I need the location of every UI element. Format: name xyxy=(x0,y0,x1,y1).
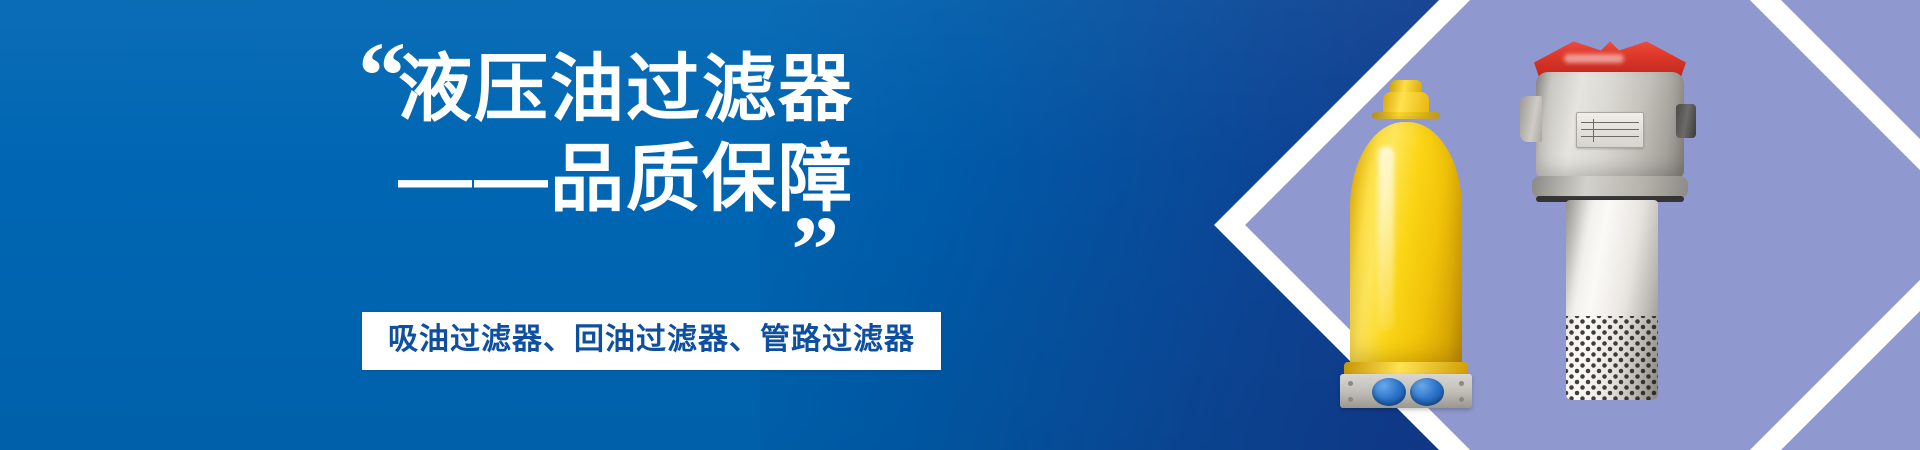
subtitle-text: 吸油过滤器、回油过滤器、管路过滤器 xyxy=(388,323,915,357)
subtitle-badge: 吸油过滤器、回油过滤器、管路过滤器 xyxy=(362,312,941,370)
base-bolt xyxy=(1459,397,1464,402)
name-plate-line xyxy=(1581,122,1639,123)
product-yellow-suction-filter xyxy=(1340,78,1472,408)
grey-filter-right-fitting xyxy=(1676,104,1696,138)
yellow-filter-highlight xyxy=(1378,146,1394,331)
name-plate-line xyxy=(1581,129,1639,130)
grey-filter-left-port xyxy=(1520,96,1542,142)
page-title-line-2: ——品质保障 xyxy=(398,138,798,220)
yellow-filter-port xyxy=(1410,378,1444,406)
tube-shading xyxy=(1566,200,1658,400)
yellow-filter-shoulder-ring xyxy=(1372,112,1440,119)
base-bolt xyxy=(1348,397,1353,402)
banner-text-block: “ 液压油过滤器 ——品质保障 „ 吸油过滤器、回油过滤器、管路过滤器 xyxy=(0,0,900,450)
yellow-filter-body xyxy=(1350,122,1462,372)
red-cap-highlight xyxy=(1564,54,1624,63)
base-bolt xyxy=(1348,381,1353,386)
closing-quote-mark: „ xyxy=(792,152,836,248)
name-plate-divider xyxy=(1593,119,1594,142)
name-plate-line xyxy=(1581,136,1639,137)
grey-filter-mount-flange xyxy=(1532,176,1688,198)
product-grey-return-filter xyxy=(1520,34,1700,414)
opening-quote-mark: “ xyxy=(358,28,402,124)
base-bolt xyxy=(1459,381,1464,386)
grey-filter-perforated-tube xyxy=(1566,200,1658,400)
yellow-filter-port xyxy=(1372,378,1406,406)
yellow-filter-base-block xyxy=(1340,374,1472,408)
promo-banner: “ 液压油过滤器 ——品质保障 „ 吸油过滤器、回油过滤器、管路过滤器 xyxy=(0,0,1920,450)
grey-filter-name-plate xyxy=(1576,112,1644,148)
page-title-line-1: 液压油过滤器 xyxy=(398,48,854,130)
